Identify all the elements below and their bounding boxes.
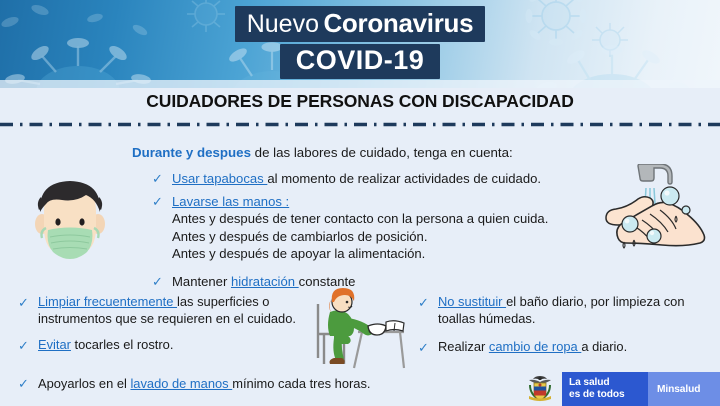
check-icon: ✓ <box>418 294 429 311</box>
bullet-subline: Antes y después de cambiarlos de posició… <box>172 228 582 246</box>
header-banner: Nuevo Coronavirus COVID-19 <box>0 0 720 88</box>
bullet-link[interactable]: cambio de ropa <box>489 339 581 354</box>
bullet-prefix: Mantener <box>172 274 231 289</box>
caregiver-at-table-icon <box>304 288 408 374</box>
check-icon: ✓ <box>18 375 29 392</box>
list-item: ✓ Lavarse las manos : Antes y después de… <box>152 193 582 263</box>
list-item: ✓ Mantener hidratación constante <box>152 273 582 290</box>
handwashing-icon <box>604 164 706 258</box>
lead-rest: de las labores de cuidado, tenga en cuen… <box>251 145 513 160</box>
bullet-link[interactable]: hidratación <box>231 274 299 289</box>
check-icon: ✓ <box>152 193 163 210</box>
bullet-text: a diario. <box>581 339 627 354</box>
list-item: ✓ Realizar cambio de ropa a diario. <box>418 339 698 356</box>
bullet-prefix: Apoyarlos en el <box>38 376 130 391</box>
slogan-line-1: La salud <box>569 377 648 389</box>
check-icon: ✓ <box>418 339 429 356</box>
banner-word-coronavirus: Coronavirus <box>323 8 473 38</box>
bullet-text: constante <box>299 274 356 289</box>
list-item: ✓ Usar tapabocas al momento de realizar … <box>152 170 582 187</box>
bullet-link[interactable]: Lavarse las manos : <box>172 194 289 209</box>
page-title: CUIDADORES DE PERSONAS CON DISCAPACIDAD <box>0 91 720 112</box>
bullet-link[interactable]: Limpiar frecuentemente <box>38 294 177 309</box>
bullet-link[interactable]: Usar tapabocas <box>172 171 267 186</box>
left-bullet-list: ✓ Limpiar frecuentemente las superficies… <box>18 294 308 364</box>
banner-title-stack: Nuevo Coronavirus COVID-19 <box>0 6 720 79</box>
bullet-text: mínimo cada tres horas. <box>232 376 370 391</box>
lead-emphasis: Durante y despues <box>132 145 251 160</box>
face-with-mask-icon <box>22 172 118 276</box>
banner-title-line1: Nuevo Coronavirus <box>235 6 486 42</box>
list-item: ✓ Limpiar frecuentemente las superficies… <box>18 294 308 327</box>
bullet-link[interactable]: No sustituir <box>438 294 506 309</box>
ministry-label: Minsalud <box>648 372 720 406</box>
list-item: ✓ Apoyarlos en el lavado de manos mínimo… <box>18 375 448 392</box>
check-icon: ✓ <box>152 273 163 290</box>
colombia-coat-of-arms-icon <box>518 372 562 406</box>
banner-title-line2: COVID-19 <box>280 44 441 79</box>
banner-word-covid19: COVID-19 <box>296 45 425 75</box>
divider <box>0 122 720 127</box>
bottom-bullet: ✓ Apoyarlos en el lavado de manos mínimo… <box>18 375 448 392</box>
check-icon: ✓ <box>152 170 163 187</box>
banner-word-nuevo: Nuevo <box>247 10 319 38</box>
lead-paragraph: Durante y despues de las labores de cuid… <box>132 145 513 160</box>
bullet-link[interactable]: Evitar <box>38 337 71 352</box>
bullet-link[interactable]: lavado de manos <box>130 376 232 391</box>
check-icon: ✓ <box>18 337 29 354</box>
bullet-subline: Antes y después de apoyar la alimentació… <box>172 245 582 263</box>
infographic-poster: Nuevo Coronavirus COVID-19 CUIDADORES DE… <box>0 0 720 406</box>
list-item: ✓ Evitar tocarles el rostro. <box>18 337 308 354</box>
right-bullet-list: ✓ No sustituir el baño diario, por limpi… <box>418 294 698 368</box>
bullet-subline: Antes y después de tener contacto con la… <box>172 210 582 228</box>
slogan-line-2: es de todos <box>569 389 648 401</box>
check-icon: ✓ <box>18 294 29 311</box>
bullet-text: al momento de realizar actividades de cu… <box>267 171 541 186</box>
slogan-block: La salud es de todos <box>562 372 648 406</box>
list-item: ✓ No sustituir el baño diario, por limpi… <box>418 294 698 327</box>
government-footer-logo: La salud es de todos Minsalud <box>518 372 720 406</box>
bullet-prefix: Realizar <box>438 339 489 354</box>
top-bullet-list: ✓ Usar tapabocas al momento de realizar … <box>152 170 582 296</box>
bullet-text: tocarles el rostro. <box>71 337 173 352</box>
